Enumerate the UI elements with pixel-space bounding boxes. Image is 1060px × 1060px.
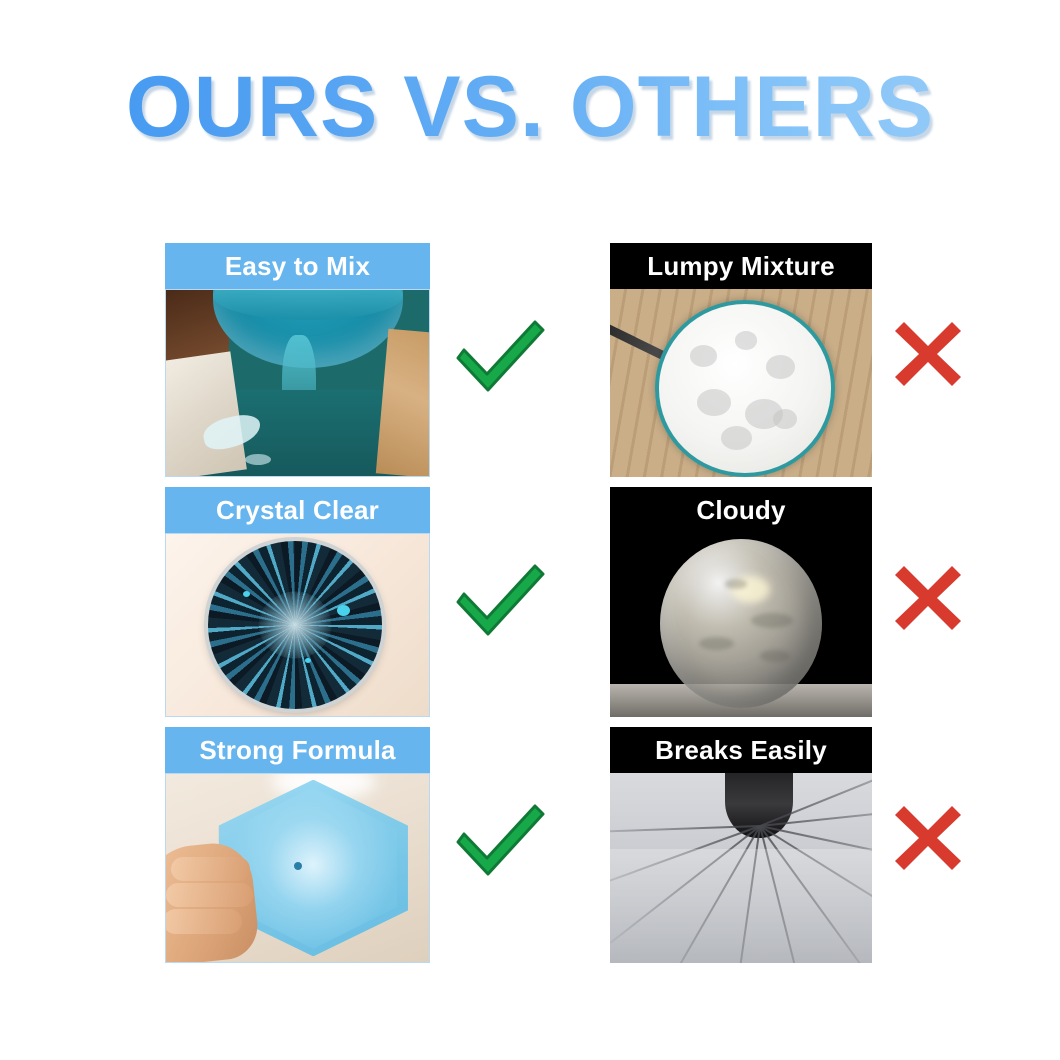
comparison-panel-others-row-1: Lumpy Mixture [610, 243, 872, 477]
photo-cloudy [610, 533, 872, 717]
cross-icon-svg [893, 320, 963, 388]
comparison-panel-ours-row-3: Strong Formula [165, 727, 430, 963]
check-icon-svg [450, 802, 550, 880]
cross-icon-svg [893, 804, 963, 872]
panel-label-ours-row-2: Crystal Clear [165, 487, 430, 533]
photo-detail [165, 351, 247, 477]
cross-icon-svg [893, 564, 963, 632]
photo-breaks-easily [610, 773, 872, 963]
photo-detail [258, 592, 331, 659]
photo-detail [208, 541, 382, 708]
cross-icon [893, 564, 963, 632]
check-icon [450, 802, 550, 880]
panel-label-ours-row-1: Easy to Mix [165, 243, 430, 289]
comparison-panel-ours-row-1: Easy to Mix [165, 243, 430, 477]
photo-detail [294, 862, 302, 870]
comparison-panel-others-row-2: Cloudy [610, 487, 872, 717]
panel-label-others-row-2: Cloudy [610, 487, 872, 533]
panel-label-others-row-1: Lumpy Mixture [610, 243, 872, 289]
comparison-panel-others-row-3: Breaks Easily [610, 727, 872, 963]
photo-strong-formula [165, 773, 430, 963]
photo-detail [655, 300, 836, 477]
panel-label-ours-row-3: Strong Formula [165, 727, 430, 773]
panel-label-others-row-3: Breaks Easily [610, 727, 872, 773]
check-icon [450, 318, 550, 396]
photo-easy-to-mix [165, 289, 430, 477]
cross-icon [893, 320, 963, 388]
photo-detail [375, 329, 430, 477]
comparison-panel-ours-row-2: Crystal Clear [165, 487, 430, 717]
page-title: OURS VS. OTHERS [0, 64, 1060, 150]
photo-detail [610, 849, 872, 963]
photo-detail [660, 539, 822, 708]
cross-icon [893, 804, 963, 872]
check-icon-svg [450, 318, 550, 396]
photo-detail [245, 454, 271, 465]
check-icon [450, 562, 550, 640]
check-icon-svg [450, 562, 550, 640]
photo-lumpy-mixture [610, 289, 872, 477]
photo-crystal-clear [165, 533, 430, 717]
